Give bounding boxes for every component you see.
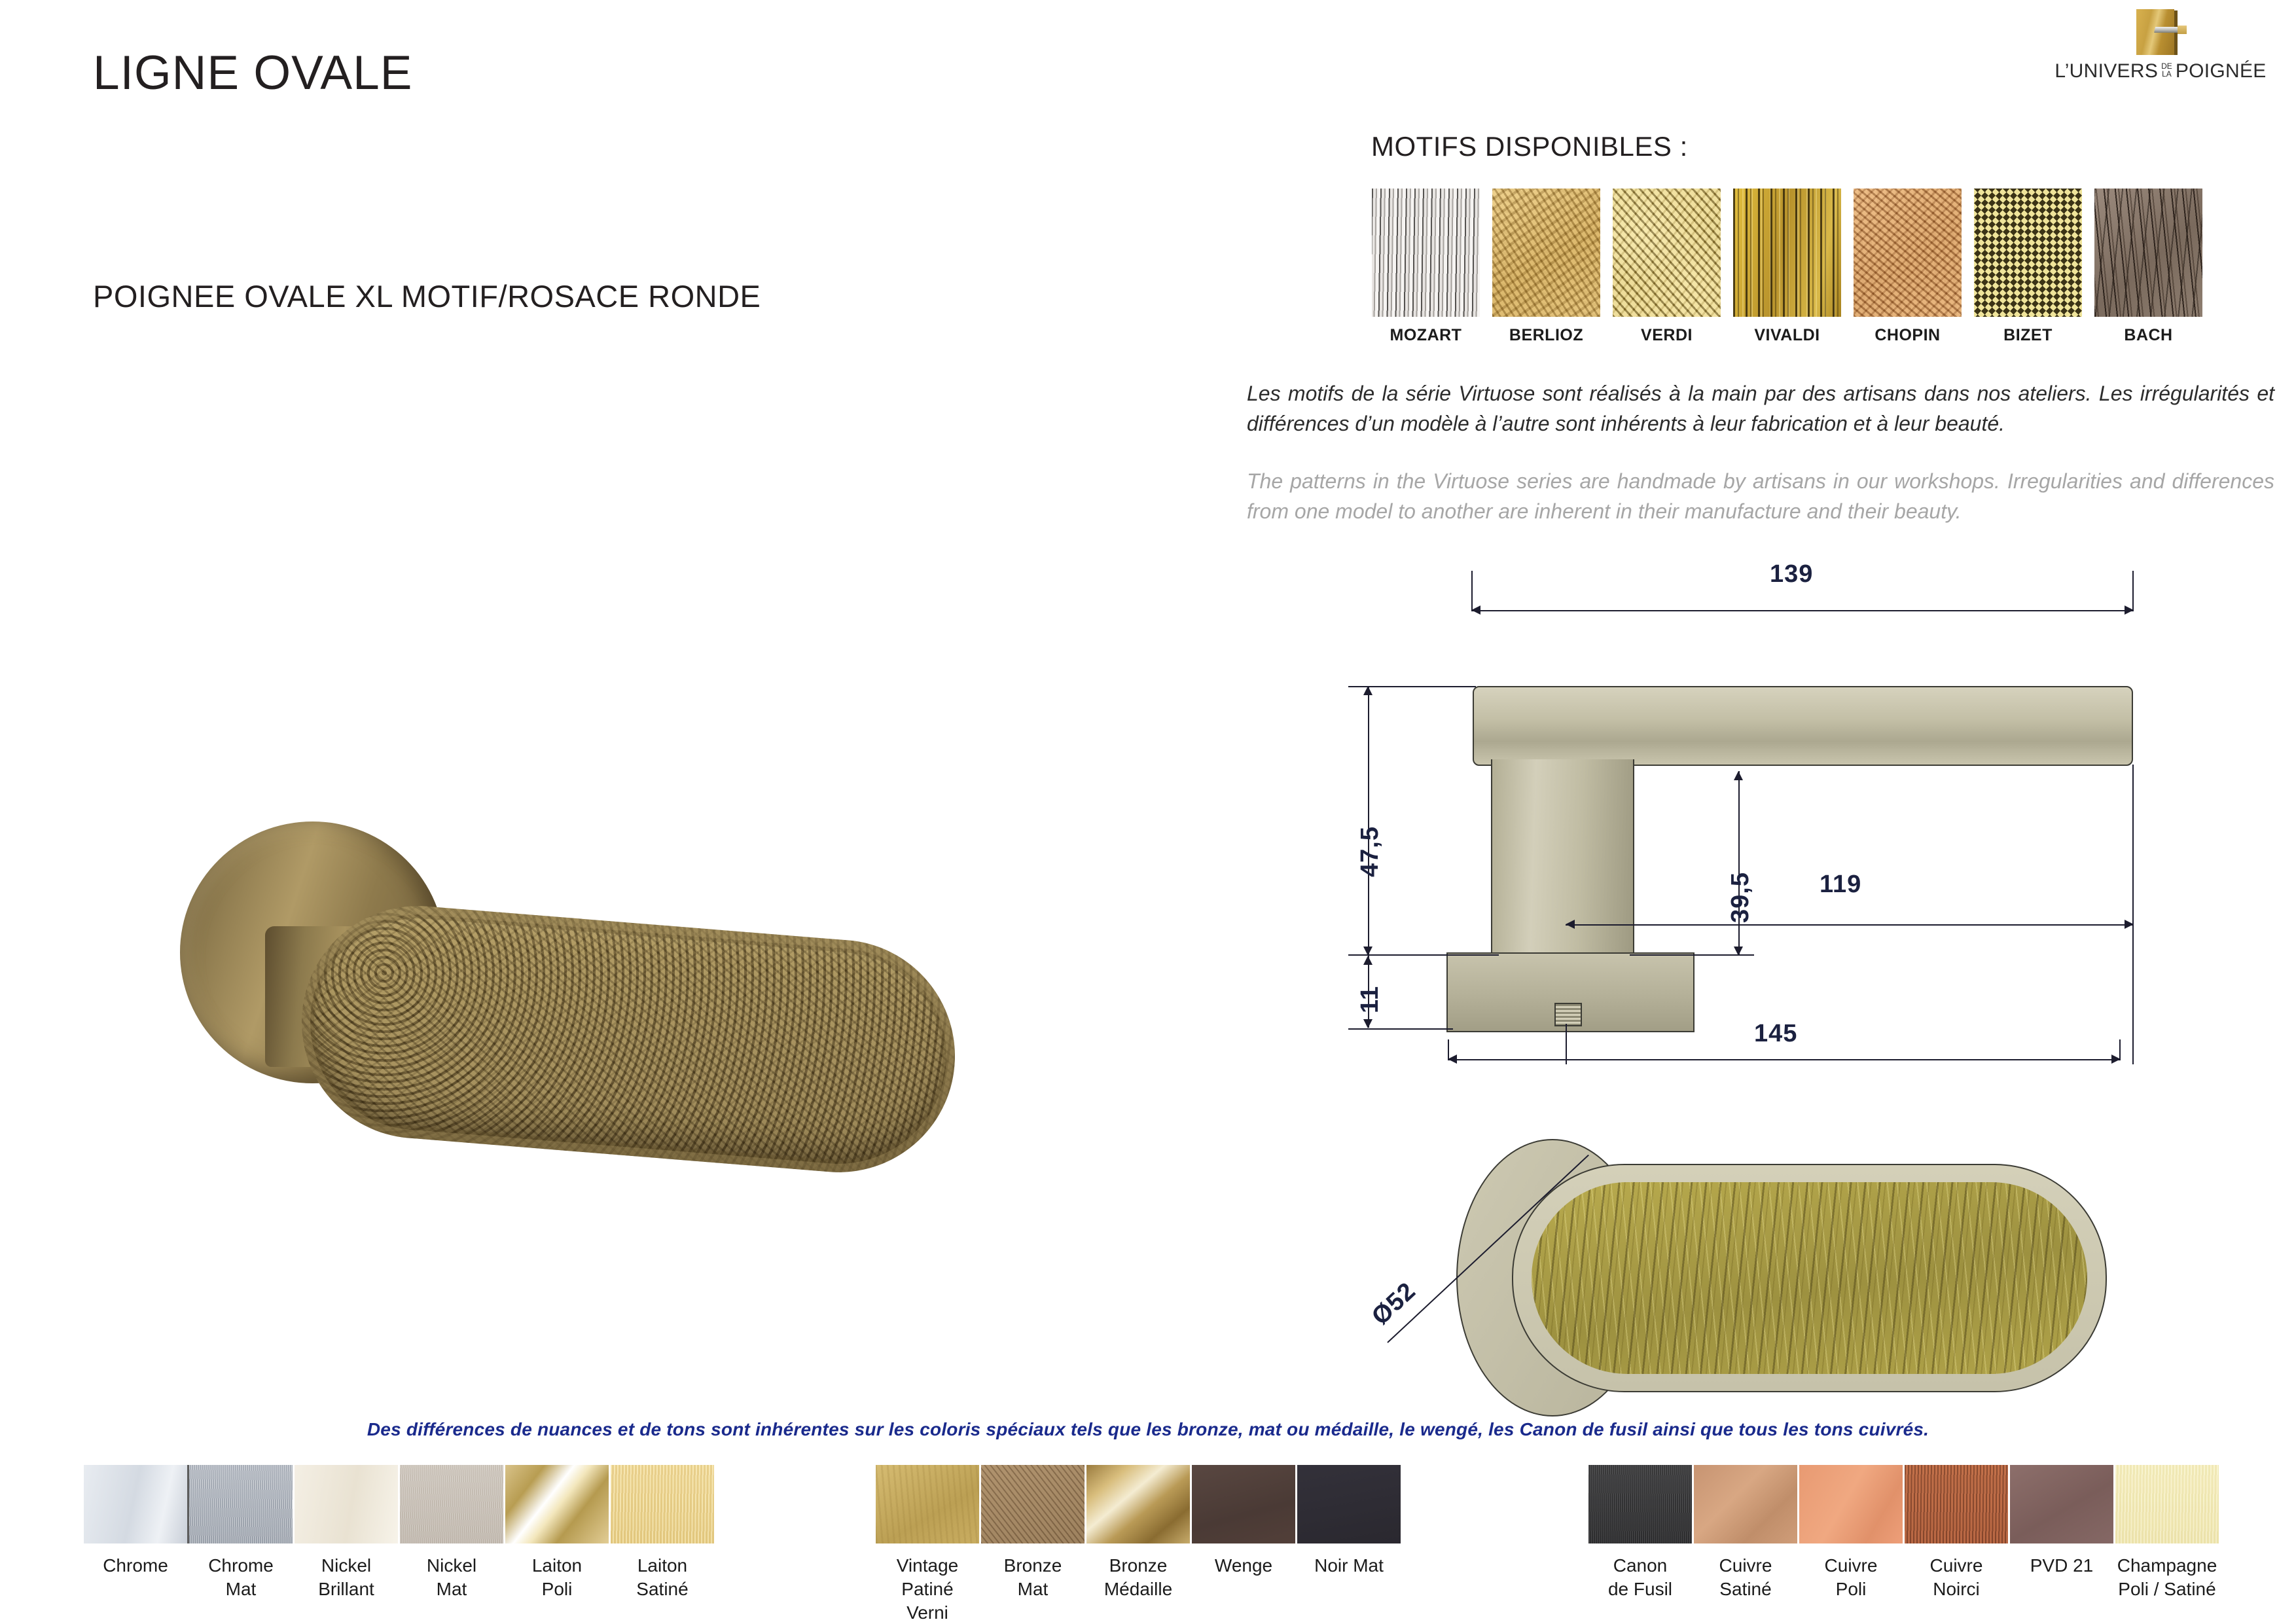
dim-139-arrow-left [1471,605,1480,615]
dim-145-ext-left [1448,1039,1449,1060]
product-lever [293,897,963,1181]
finish-swatch-cuivre-poli [1799,1465,1903,1543]
dim-139-line [1471,610,2134,611]
finish-item[interactable]: CuivreSatiné [1694,1465,1797,1601]
finish-item[interactable]: Canonde Fusil [1588,1465,1692,1601]
finish-group-bronze: Vintage PatinéVerni BronzeMat BronzeMéda… [876,1465,1401,1624]
motifs-heading: MOTIFS DISPONIBLES : [1371,131,1688,162]
finish-swatch-cuivre-noirci [1905,1465,2008,1543]
finish-item[interactable]: Wenge [1192,1465,1295,1578]
finish-swatch-champagne-poli-satine [2115,1465,2219,1543]
dim-11-arrow-up [1363,956,1372,965]
dim-139-text: 139 [1770,560,1813,588]
finish-item[interactable]: BronzeMédaille [1086,1465,1190,1601]
finish-item[interactable]: Chrome [84,1465,187,1578]
finish-swatch-nickel-mat [400,1465,503,1543]
motif-label: VIVALDI [1733,326,1841,345]
finish-group-special: Canonde Fusil CuivreSatiné CuivrePoli Cu… [1588,1465,2219,1601]
brand-name-part1: L’UNIVERS [2054,60,2158,82]
finish-label: BronzeMat [981,1554,1085,1601]
motif-swatch-mozart [1372,189,1480,317]
notice-french: Les motifs de la série Virtuose sont réa… [1247,378,2274,439]
brand-name: L’UNIVERS DE LA POIGNÉE [2033,60,2288,82]
cad-lever-top-shape [1512,1164,2107,1392]
finish-label: NickelBrillant [295,1554,398,1601]
finish-label: ChromeMat [189,1554,293,1601]
technical-drawing-side-view: 139 47,5 39,5 11 119 [1296,524,2153,956]
finish-label: PVD 21 [2010,1554,2113,1578]
cad-neck-side-shape [1491,759,1634,956]
finish-swatch-bronze-medaille [1086,1465,1190,1543]
finish-item[interactable]: LaitonPoli [505,1465,609,1601]
motif-swatch-bach [2094,189,2202,317]
product-subtitle: POIGNEE OVALE XL MOTIF/ROSACE RONDE [93,278,761,314]
dim-119-arrow-left [1566,920,1575,929]
finish-item[interactable]: ChromeMat [189,1465,293,1601]
finish-swatch-wenge [1192,1465,1295,1543]
finish-swatch-noir-mat [1297,1465,1401,1543]
finish-item[interactable]: PVD 21 [2010,1465,2113,1578]
finish-swatch-pvd21 [2010,1465,2113,1543]
motif-item[interactable]: VERDI [1613,189,1721,345]
finish-label: Noir Mat [1297,1554,1401,1578]
motif-swatch-row: MOZART BERLIOZ VERDI VIVALDI CHOPIN BIZE… [1372,189,2216,345]
finish-swatch-chrome-mat [189,1465,293,1543]
motif-swatch-chopin [1854,189,1962,317]
motif-label: BIZET [1974,326,2082,345]
motif-item[interactable]: BIZET [1974,189,2082,345]
finish-disclaimer: Des différences de nuances et de tons so… [0,1419,2296,1440]
motif-item[interactable]: BERLIOZ [1492,189,1600,345]
dim-395-arrow-up [1734,771,1743,780]
finish-swatch-bronze-mat [981,1465,1085,1543]
motif-item[interactable]: MOZART [1372,189,1480,345]
finish-swatch-nickel-brillant [295,1465,398,1543]
dim-395-ext-bottom [1630,954,1754,956]
finish-item[interactable]: LaitonSatiné [611,1465,714,1601]
finish-item[interactable]: NickelBrillant [295,1465,398,1601]
finish-swatch-laiton-poli [505,1465,609,1543]
motif-label: BERLIOZ [1492,326,1600,345]
finish-label: CuivreSatiné [1694,1554,1797,1601]
motif-swatch-bizet [1974,189,2082,317]
finish-label: LaitonPoli [505,1554,609,1601]
dim-475-ext-top [1348,686,1476,687]
dim-119-text: 119 [1820,871,1861,899]
dim-119-line [1566,924,2134,926]
motif-swatch-verdi [1613,189,1721,317]
notice-english: The patterns in the Virtuose series are … [1247,466,2274,527]
motif-item[interactable]: BACH [2094,189,2202,345]
finish-label: Canonde Fusil [1588,1554,1692,1601]
finish-swatch-laiton-satine [611,1465,714,1543]
dim-145-ext-right [2119,1039,2121,1060]
finish-swatch-canon-de-fusil [1588,1465,1692,1543]
product-photo [167,776,985,1234]
finish-label: CuivreNoirci [1905,1554,2008,1601]
dim-395-line [1738,771,1740,956]
motif-label: VERDI [1613,326,1721,345]
finish-label: BronzeMédaille [1086,1554,1190,1601]
dim-145-text: 145 [1754,1020,1797,1048]
finish-label: CuivrePoli [1799,1554,1903,1601]
finish-item[interactable]: BronzeMat [981,1465,1085,1601]
finish-label: Vintage PatinéVerni [876,1554,979,1624]
finish-item[interactable]: Noir Mat [1297,1465,1401,1578]
motif-label: CHOPIN [1854,326,1962,345]
dim-139-ext-left [1471,571,1473,610]
brand-name-la: LA [2161,70,2172,78]
dim-475-line [1368,686,1369,956]
finish-item[interactable]: NickelMat [400,1465,503,1601]
finish-item[interactable]: CuivrePoli [1799,1465,1903,1601]
dim-475-text: 47,5 [1356,826,1384,877]
finish-group-standard: Chrome ChromeMat NickelBrillant NickelMa… [84,1465,714,1601]
motif-label: MOZART [1372,326,1480,345]
page-title: LIGNE OVALE [93,46,412,100]
finish-item[interactable]: CuivreNoirci [1905,1465,2008,1601]
dim-139-ext-right [2132,571,2134,610]
finish-swatch-vintage-patine-verni [876,1465,979,1543]
brand-logo: L’UNIVERS DE LA POIGNÉE [2033,9,2288,82]
finish-label: LaitonSatiné [611,1554,714,1601]
dim-diameter-text: Ø52 [1367,1277,1422,1331]
finish-swatch-cuivre-satine [1694,1465,1797,1543]
finish-label: Wenge [1192,1554,1295,1578]
technical-drawing-top-view: 145 Ø52 [1296,1008,2166,1375]
product-lever-rim [293,897,963,1181]
cad-lever-side-shape [1473,686,2133,766]
brand-name-part2: POIGNÉE [2176,60,2267,82]
dim-145-line [1448,1059,2121,1060]
finish-item[interactable]: ChampagnePoli / Satiné [2115,1465,2219,1601]
brand-name-dela: DE LA [2161,62,2172,78]
finish-swatch-chrome [84,1465,189,1543]
dim-395-text: 39,5 [1727,872,1755,923]
finish-label: ChampagnePoli / Satiné [2115,1554,2219,1601]
door-handle-logo-icon [2136,9,2185,55]
cad-lever-top-texture [1532,1182,2087,1374]
motif-swatch-berlioz [1492,189,1600,317]
dim-145-arrow-left [1448,1055,1457,1064]
motif-label: BACH [2094,326,2202,345]
motif-swatch-vivaldi [1733,189,1841,317]
finish-item[interactable]: Vintage PatinéVerni [876,1465,979,1624]
motif-item[interactable]: VIVALDI [1733,189,1841,345]
finish-label: NickelMat [400,1554,503,1601]
motif-item[interactable]: CHOPIN [1854,189,1962,345]
dim-475-arrow-up [1363,686,1372,695]
finish-label: Chrome [84,1554,187,1578]
logo-lever-knob-shape [2178,26,2187,34]
